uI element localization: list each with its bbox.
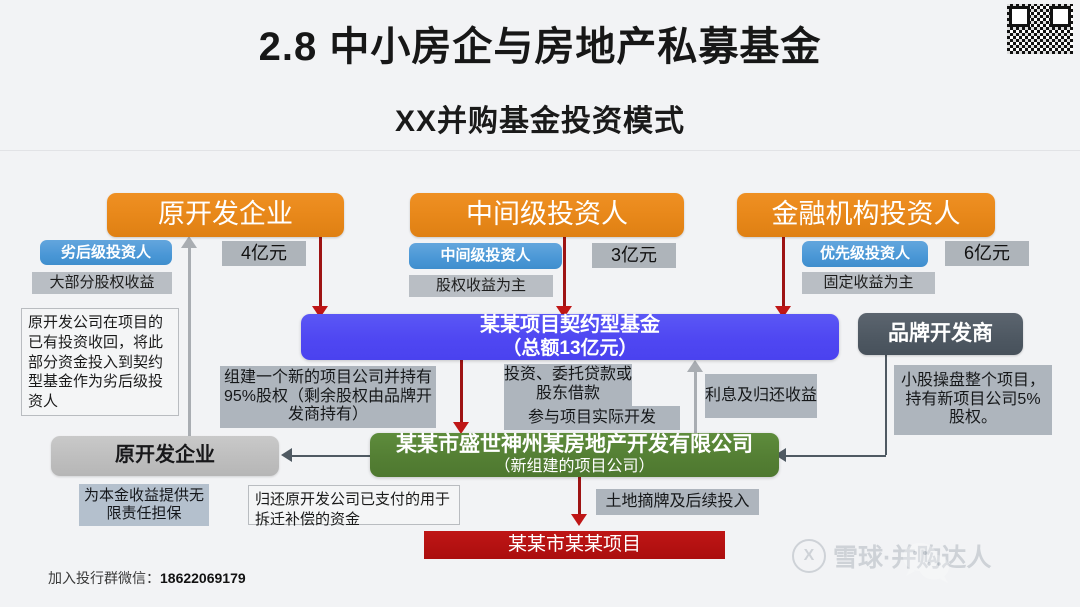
amount-original-developer-text: 4亿元 [241, 243, 287, 264]
box-project-company[interactable]: 某某市盛世神州某房地产开发有限公司 （新组建的项目公司） [370, 433, 779, 477]
connector-developer-to-fund [319, 236, 322, 312]
box-financial-institution[interactable]: 金融机构投资人 [737, 193, 995, 237]
page-subtitle: XX并购基金投资模式 [0, 96, 1080, 140]
box-financial-institution-label: 金融机构投资人 [772, 199, 961, 231]
connector-project-company-to-project-head [571, 514, 587, 526]
box-contractual-fund-line1: 某某项目契约型基金 [480, 314, 660, 338]
note-equity-structure: 组建一个新的项目公司并持有95%股权（剩余股权由品牌开发商持有） [220, 366, 436, 428]
box-mezzanine-investor[interactable]: 中间级投资人 [410, 193, 684, 237]
connector-financial-to-fund [782, 236, 785, 312]
wechat-icon [900, 540, 952, 584]
label-mezzanine-note-text: 股权收益为主 [436, 277, 526, 295]
note-guarantee: 为本金收益提供无限责任担保 [79, 484, 209, 526]
footer-wechat-label: 加入投行群微信： [48, 570, 160, 586]
xueqiu-logo-letter: X [804, 547, 815, 565]
connector-original-developer-up-head [181, 236, 197, 248]
qr-code-icon [1007, 4, 1073, 54]
amount-original-developer: 4亿元 [222, 241, 306, 266]
box-original-developer-bottom-label: 原开发企业 [115, 444, 215, 468]
pill-senior-investor[interactable]: 优先级投资人 [802, 241, 928, 267]
footer-wechat-number: 18622069179 [160, 570, 246, 586]
pill-mezzanine-investor-label: 中间级投资人 [440, 247, 530, 265]
connector-project-to-developer-head [281, 448, 292, 462]
label-senior-note-text: 固定收益为主 [823, 274, 913, 292]
box-brand-developer-label: 品牌开发商 [888, 322, 993, 347]
pill-subordinate-investor-label: 劣后级投资人 [61, 244, 151, 262]
note-land-acquisition: 土地摘牌及后续投入 [596, 489, 759, 515]
note-participation-text: 参与项目实际开发 [528, 409, 656, 428]
connector-project-to-fund-return-head [687, 360, 703, 372]
note-land-acquisition-text: 土地摘牌及后续投入 [605, 493, 749, 512]
footer-wechat: 加入投行群微信：18622069179 [48, 568, 246, 588]
title-divider [0, 150, 1080, 151]
note-participation: 参与项目实际开发 [504, 406, 680, 430]
pill-senior-investor-label: 优先级投资人 [820, 245, 910, 263]
note-interest-return-text: 利息及归还收益 [705, 387, 817, 406]
connector-brand-to-project [786, 455, 886, 457]
box-contractual-fund-line2: （总额13亿元） [502, 338, 637, 360]
amount-mezzanine-text: 3亿元 [611, 245, 657, 266]
label-subordinate-note: 大部分股权收益 [32, 272, 172, 294]
box-original-developer-label: 原开发企业 [158, 199, 293, 231]
slide-canvas: 2.8 中小房企与房地产私募基金 XX并购基金投资模式 原开发企业 中间级投资人… [0, 0, 1080, 607]
box-project-label: 某某市某某项目 [508, 534, 641, 556]
connector-original-developer-up [188, 248, 191, 444]
watermark: X 雪球·并购达人 [792, 538, 991, 574]
note-repayment: 归还原开发公司已支付的用于拆迁补偿的资金 [248, 485, 460, 525]
label-mezzanine-note: 股权收益为主 [409, 275, 553, 297]
connector-mezzanine-to-fund [563, 236, 566, 312]
pill-subordinate-investor[interactable]: 劣后级投资人 [40, 240, 172, 265]
box-original-developer[interactable]: 原开发企业 [107, 193, 344, 237]
note-original-developer-reinvest: 原开发公司在项目的已有投资收回，将此部分资金投入到契约型基金作为劣后级投资人 [21, 308, 179, 416]
note-brand-developer-text: 小股操盘整个项目，持有新项目公司5%股权。 [898, 372, 1048, 429]
pill-mezzanine-investor[interactable]: 中间级投资人 [409, 243, 562, 269]
xueqiu-logo-icon: X [792, 539, 826, 573]
box-brand-developer[interactable]: 品牌开发商 [858, 313, 1023, 355]
connector-project-to-fund-return [694, 370, 697, 434]
note-brand-developer: 小股操盘整个项目，持有新项目公司5%股权。 [894, 365, 1052, 435]
connector-project-to-developer [292, 455, 370, 457]
box-original-developer-bottom[interactable]: 原开发企业 [51, 436, 279, 476]
note-investment-channel-text: 投资、委托贷款或股东借款 [504, 366, 632, 404]
label-subordinate-note-text: 大部分股权收益 [49, 274, 154, 292]
note-interest-return: 利息及归还收益 [705, 374, 817, 418]
box-project[interactable]: 某某市某某项目 [424, 531, 725, 559]
note-investment-channel: 投资、委托贷款或股东借款 [504, 364, 632, 406]
page-title: 2.8 中小房企与房地产私募基金 [0, 14, 1080, 72]
box-contractual-fund[interactable]: 某某项目契约型基金 （总额13亿元） [301, 314, 839, 360]
connector-project-company-to-project [578, 474, 581, 519]
connector-fund-to-project-company [460, 358, 463, 428]
note-guarantee-text: 为本金收益提供无限责任担保 [79, 487, 209, 522]
box-mezzanine-investor-label: 中间级投资人 [466, 199, 628, 231]
box-project-company-line1: 某某市盛世神州某房地产开发有限公司 [396, 433, 753, 458]
note-repayment-text: 归还原开发公司已支付的用于拆迁补偿的资金 [255, 490, 453, 530]
amount-mezzanine: 3亿元 [592, 243, 676, 268]
box-project-company-line2: （新组建的项目公司） [494, 458, 654, 477]
note-equity-structure-text: 组建一个新的项目公司并持有95%股权（剩余股权由品牌开发商持有） [220, 369, 436, 426]
note-original-developer-reinvest-text: 原开发公司在项目的已有投资收回，将此部分资金投入到契约型基金作为劣后级投资人 [28, 313, 172, 412]
amount-senior-text: 6亿元 [964, 243, 1010, 264]
connector-brand-developer-down [885, 355, 887, 455]
amount-senior: 6亿元 [945, 241, 1029, 266]
label-senior-note: 固定收益为主 [802, 272, 935, 294]
